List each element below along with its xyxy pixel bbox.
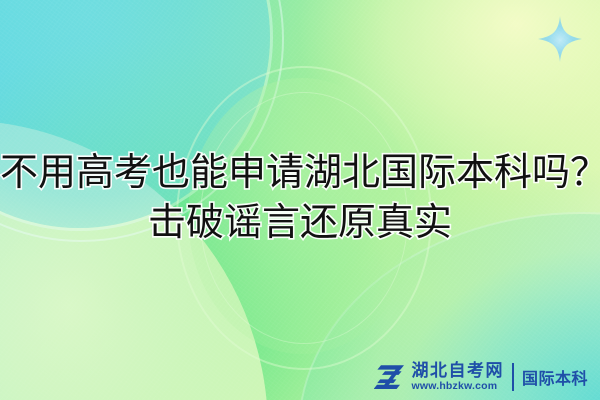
headline-block: 不用高考也能申请湖北国际本科吗？ 击破谣言还原真实 xyxy=(0,148,600,248)
hbzkw-z-mark-icon xyxy=(374,362,406,392)
headline-line-2: 击破谣言还原真实 xyxy=(0,198,600,248)
sparkle-icon xyxy=(538,16,582,62)
logo-divider xyxy=(512,363,514,391)
sub-brand-label: 国际本科 xyxy=(522,365,588,389)
brand-logo-lockup[interactable]: 湖北自考网 www.hbzkw.com 国际本科 xyxy=(374,362,588,392)
promo-banner: 不用高考也能申请湖北国际本科吗？ 击破谣言还原真实 xyxy=(0,0,600,400)
brand-text-block: 湖北自考网 www.hbzkw.com xyxy=(411,362,504,392)
headline-line-1: 不用高考也能申请湖北国际本科吗？ xyxy=(0,148,600,198)
brand-website-url: www.hbzkw.com xyxy=(411,381,504,392)
brand-name-cn: 湖北自考网 xyxy=(411,362,504,379)
